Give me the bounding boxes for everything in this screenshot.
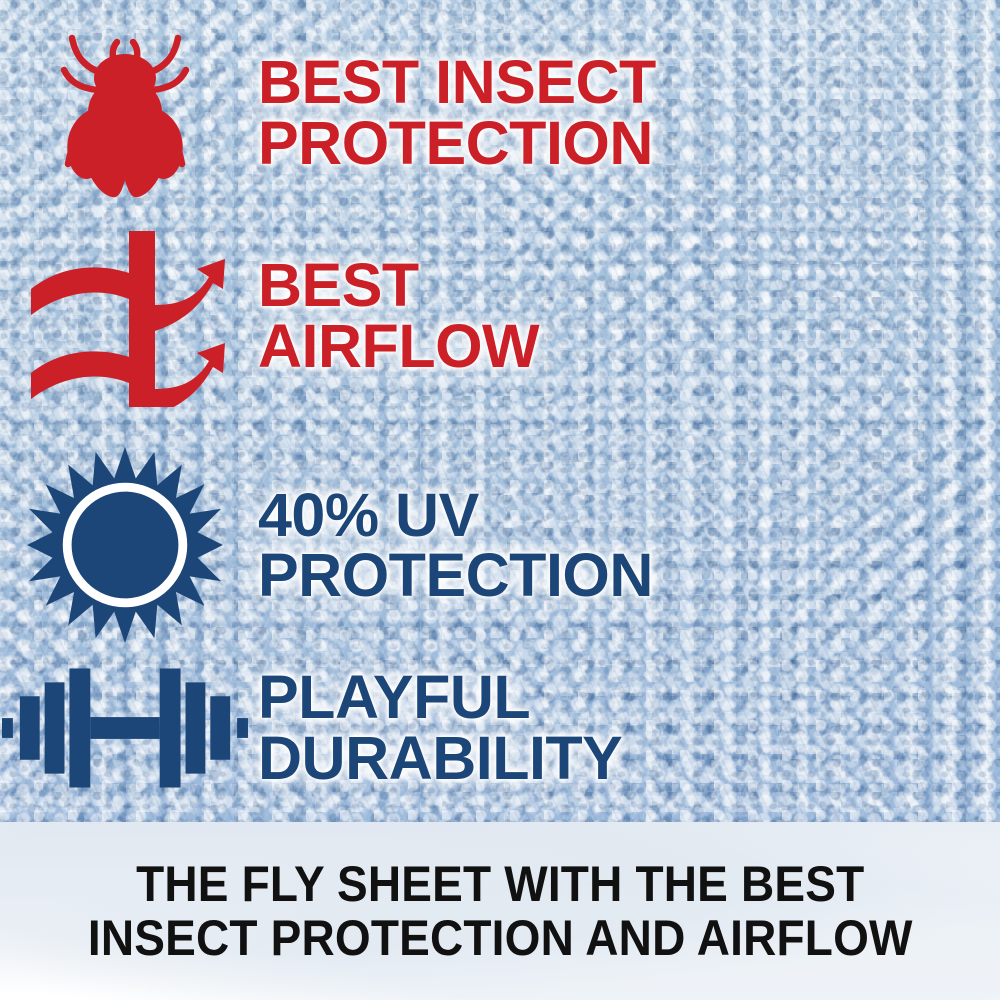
icon-cell-airflow — [0, 225, 250, 407]
feature-row-insect-protection: BEST INSECT PROTECTION — [0, 20, 900, 205]
label-cell-durability: PLAYFUL DURABILITY — [250, 667, 622, 788]
feature-row-airflow: BEST AIRFLOW — [0, 218, 900, 413]
feature-label-uv-protection: 40% UV PROTECTION — [258, 485, 653, 606]
icon-cell-durability — [0, 660, 250, 796]
feature-label-airflow: BEST AIRFLOW — [258, 255, 539, 376]
poster-caption: THE FLY SHEET WITH THE BEST INSECT PROTE… — [88, 857, 913, 965]
icon-cell-insect — [0, 24, 250, 202]
feature-label-durability: PLAYFUL DURABILITY — [258, 667, 622, 788]
fly-icon — [50, 24, 200, 202]
caption-band: THE FLY SHEET WITH THE BEST INSECT PROTE… — [0, 822, 1000, 1000]
dumbbell-icon — [0, 660, 250, 796]
airflow-icon — [25, 225, 225, 407]
feature-label-insect-protection: BEST INSECT PROTECTION — [258, 52, 656, 173]
label-cell-airflow: BEST AIRFLOW — [250, 255, 539, 376]
sun-uv-icon — [27, 447, 223, 643]
feature-row-durability: PLAYFUL DURABILITY — [0, 645, 900, 810]
feature-row-uv-protection: 40% UV PROTECTION — [0, 440, 900, 650]
product-feature-poster: BEST INSECT PROTECTION — [0, 0, 1000, 1000]
label-cell-uv: 40% UV PROTECTION — [250, 485, 653, 606]
icon-cell-uv — [0, 447, 250, 643]
label-cell-insect: BEST INSECT PROTECTION — [250, 52, 656, 173]
